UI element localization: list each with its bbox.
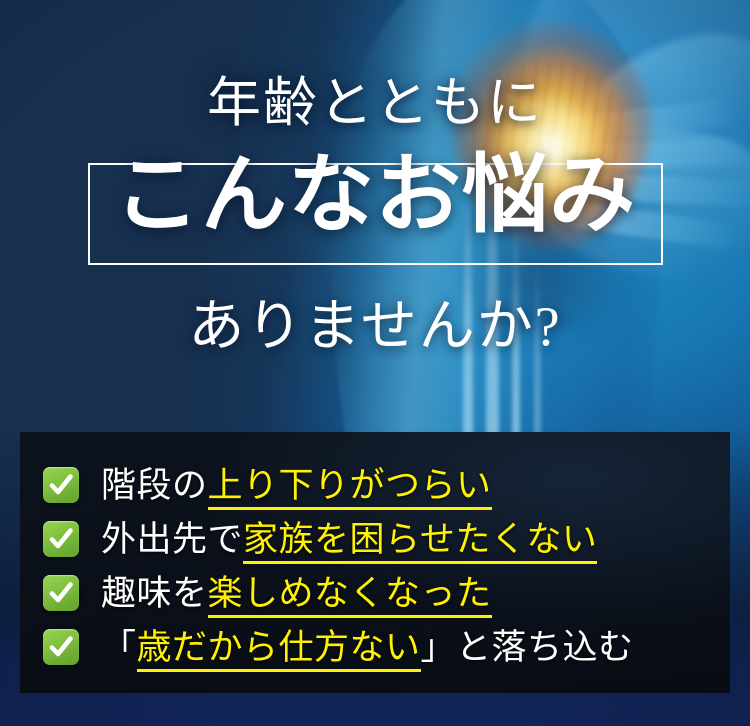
list-item: 外出先で家族を困らせたくない <box>20 512 730 566</box>
list-item-prefix: 「 <box>101 628 137 667</box>
list-item-text: 階段の上り下りがつらい <box>101 468 492 503</box>
headline-line-bottom: ありませんか? <box>0 299 750 355</box>
list-item-text: 「歳だから仕方ない」と落ち込む <box>101 630 634 665</box>
list-item: 趣味を楽しめなくなった <box>20 566 730 620</box>
list-item: 「歳だから仕方ない」と落ち込む <box>20 620 730 674</box>
list-item-text: 趣味を楽しめなくなった <box>101 576 492 611</box>
green-check-icon <box>43 575 79 611</box>
green-check-icon <box>43 467 79 503</box>
list-item-prefix: 階段の <box>101 466 208 505</box>
checklist-panel: 階段の上り下りがつらい 外出先で家族を困らせたくない 趣味を楽しめなくなった <box>20 432 730 693</box>
headline-line-top: 年齢とともに <box>0 76 750 130</box>
green-check-icon <box>43 629 79 665</box>
list-item-highlight: 上り下りがつらい <box>208 466 492 510</box>
list-item-prefix: 趣味を <box>101 574 208 613</box>
list-item-text: 外出先で家族を困らせたくない <box>101 522 597 557</box>
list-item-highlight: 家族を困らせたくない <box>243 520 597 564</box>
list-item-highlight: 楽しめなくなった <box>208 574 492 618</box>
promo-banner: 年齢とともに こんなお悩み ありませんか? 階段の上り下りがつらい 外出先で家族… <box>0 0 750 726</box>
headline-boxed-text: こんなお悩み <box>0 152 750 238</box>
list-item-prefix: 外出先で <box>101 520 243 559</box>
green-check-icon <box>43 521 79 557</box>
list-item: 階段の上り下りがつらい <box>20 458 730 512</box>
list-item-highlight: 歳だから仕方ない <box>137 628 421 672</box>
list-item-suffix: 」と落ち込む <box>421 628 634 667</box>
